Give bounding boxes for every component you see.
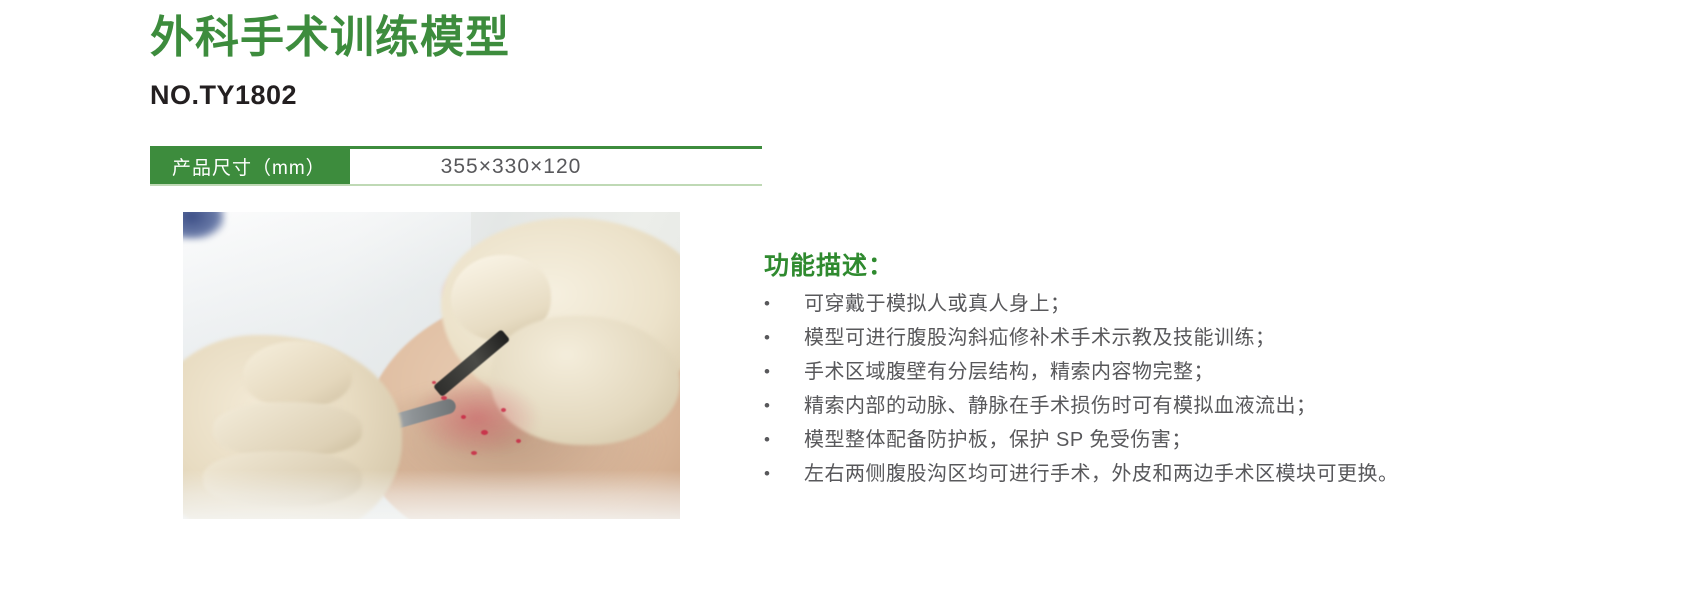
left-column: 外科手术训练模型 NO.TY1802 xyxy=(150,0,770,111)
bullet-icon: • xyxy=(764,328,804,348)
feature-list-item: •精索内部的动脉、静脉在手术损伤时可有模拟血液流出； xyxy=(764,396,1644,416)
feature-list-item: •可穿戴于模拟人或真人身上； xyxy=(764,294,1644,314)
features-list: •可穿戴于模拟人或真人身上；•模型可进行腹股沟斜疝修补术手术示教及技能训练；•手… xyxy=(764,294,1644,484)
page-title: 外科手术训练模型 xyxy=(150,16,770,60)
spec-label-product-size: 产品尺寸（mm） xyxy=(150,149,350,184)
feature-list-item-label: 模型可进行腹股沟斜疝修补术手术示教及技能训练； xyxy=(804,328,1644,348)
features-heading: 功能描述： xyxy=(764,246,1644,282)
photo-blood-speck xyxy=(432,381,436,384)
feature-list-item: •模型可进行腹股沟斜疝修补术手术示教及技能训练； xyxy=(764,328,1644,348)
feature-list-item-label: 可穿戴于模拟人或真人身上； xyxy=(804,294,1644,314)
bullet-icon: • xyxy=(764,396,804,416)
product-code: NO.TY1802 xyxy=(150,80,770,111)
product-photo xyxy=(183,212,680,519)
photo-left-glove-finger-1 xyxy=(243,341,352,409)
spec-table-bottom-rule xyxy=(150,184,762,186)
feature-list-item-label: 左右两侧腹股沟区均可进行手术，外皮和两边手术区模块可更换。 xyxy=(804,464,1644,484)
bullet-icon: • xyxy=(764,362,804,382)
photo-left-glove-finger-2 xyxy=(213,402,362,457)
feature-list-item-label: 模型整体配备防护板，保护 SP 免受伤害； xyxy=(804,430,1644,450)
feature-list-item-label: 手术区域腹壁有分层结构，精索内容物完整； xyxy=(804,362,1644,382)
feature-list-item-label: 精索内部的动脉、静脉在手术损伤时可有模拟血液流出； xyxy=(804,396,1644,416)
feature-list-item: •手术区域腹壁有分层结构，精索内容物完整； xyxy=(764,362,1644,382)
bullet-icon: • xyxy=(764,294,804,314)
features-section: 功能描述： •可穿戴于模拟人或真人身上；•模型可进行腹股沟斜疝修补术手术示教及技… xyxy=(764,246,1644,498)
bullet-icon: • xyxy=(764,464,804,484)
spec-value-product-size: 355×330×120 xyxy=(350,149,762,184)
photo-blue-corner xyxy=(183,212,225,240)
spec-table: 产品尺寸（mm） 355×330×120 xyxy=(150,146,762,186)
photo-bottom-drape xyxy=(183,470,680,519)
bullet-icon: • xyxy=(764,430,804,450)
spec-table-row: 产品尺寸（mm） 355×330×120 xyxy=(150,149,762,184)
feature-list-item: •模型整体配备防护板，保护 SP 免受伤害； xyxy=(764,430,1644,450)
feature-list-item: •左右两侧腹股沟区均可进行手术，外皮和两边手术区模块可更换。 xyxy=(764,464,1644,484)
photo-blood-speck xyxy=(461,415,466,419)
